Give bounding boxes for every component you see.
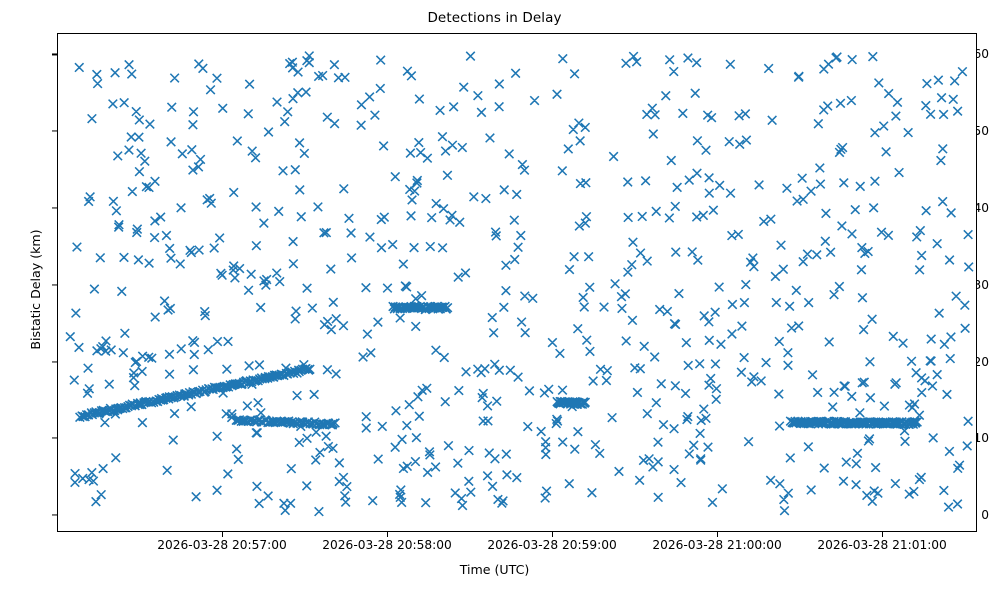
chart-title: Detections in Delay bbox=[0, 10, 989, 26]
figure-canvas: Detections in Delay Bistatic Delay (km) … bbox=[0, 0, 989, 590]
scatter-markers bbox=[66, 52, 973, 516]
plot-area bbox=[57, 33, 977, 532]
x-tick-mark bbox=[717, 532, 718, 537]
x-axis-label: Time (UTC) bbox=[0, 562, 989, 577]
scatter-points-layer bbox=[58, 34, 976, 531]
x-tick-mark bbox=[882, 532, 883, 537]
x-tick-label: 2026-03-28 21:01:00 bbox=[782, 538, 982, 552]
y-axis-label: Bistatic Delay (km) bbox=[28, 40, 43, 539]
x-tick-mark bbox=[387, 532, 388, 537]
x-tick-mark bbox=[222, 532, 223, 537]
x-tick-mark bbox=[552, 532, 553, 537]
